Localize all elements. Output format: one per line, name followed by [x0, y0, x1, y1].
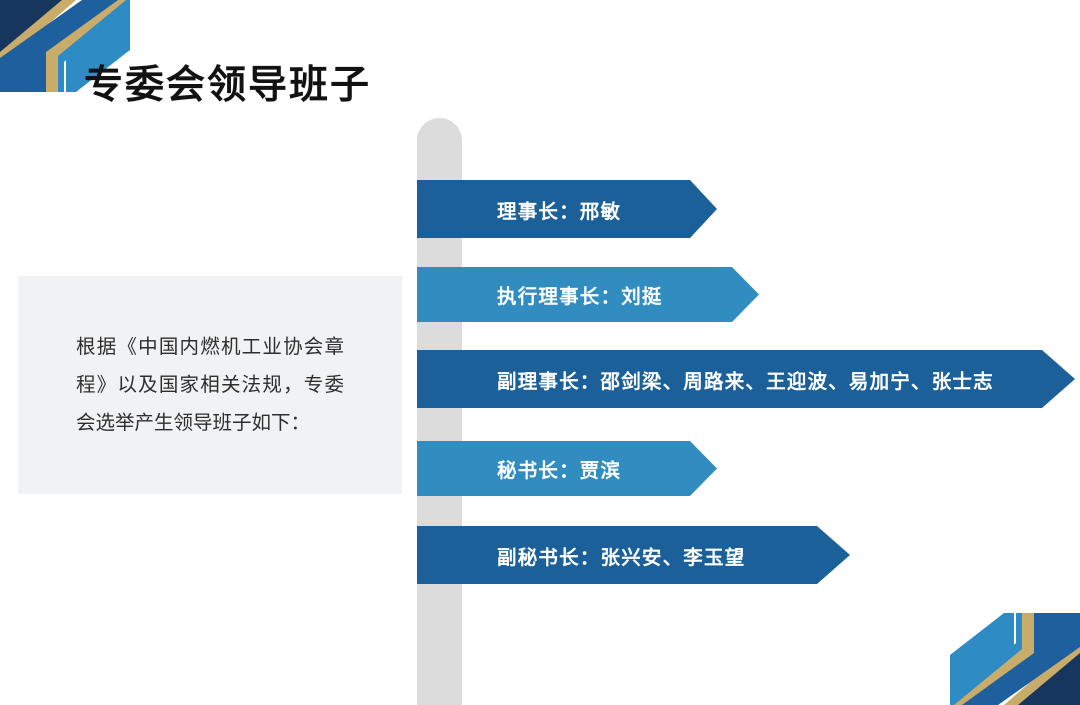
description-panel: 根据《中国内燃机工业协会章程》以及国家相关法规，专委会选举产生领导班子如下：	[18, 276, 402, 494]
corner-decoration-bottom-right-graphic	[950, 613, 1080, 705]
slide-canvas: 专委会领导班子 根据《中国内燃机工业协会章程》以及国家相关法规，专委会选举产生领…	[0, 0, 1080, 705]
banner-arrow[interactable]: 理事长：邢敏	[417, 180, 717, 238]
banner-arrow[interactable]: 副秘书长：张兴安、李玉望	[417, 526, 850, 584]
description-text: 根据《中国内燃机工业协会章程》以及国家相关法规，专委会选举产生领导班子如下：	[76, 328, 344, 442]
banner-arrow-label: 副理事长：邵剑梁、周路来、王迎波、易加宁、张士志	[497, 365, 994, 394]
banner-arrow[interactable]: 秘书长：贾滨	[417, 441, 717, 496]
banner-arrow-label: 副秘书长：张兴安、李玉望	[497, 541, 745, 570]
banner-arrow-label: 理事长：邢敏	[497, 195, 621, 224]
banner-arrow[interactable]: 副理事长：邵剑梁、周路来、王迎波、易加宁、张士志	[417, 350, 1075, 408]
page-title: 专委会领导班子	[84, 54, 371, 110]
banner-arrow[interactable]: 执行理事长：刘挺	[417, 267, 759, 322]
banner-arrow-label: 秘书长：贾滨	[497, 454, 621, 483]
corner-decoration-bottom-right	[950, 613, 1080, 705]
banner-arrow-label: 执行理事长：刘挺	[497, 280, 663, 309]
